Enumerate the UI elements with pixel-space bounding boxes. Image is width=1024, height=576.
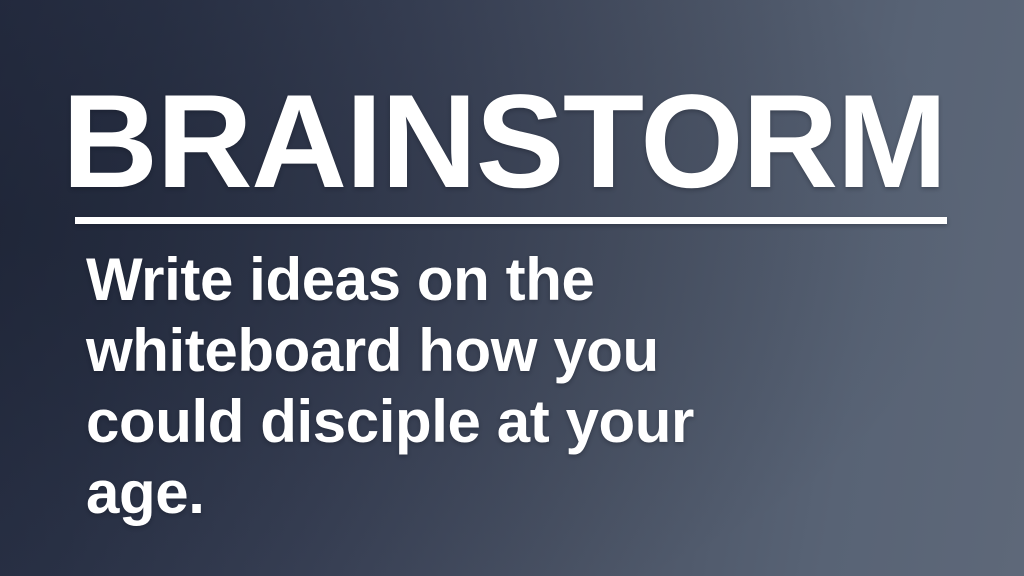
title-divider-rule xyxy=(75,217,947,224)
presentation-slide: BRAINSTORM Write ideas on the whiteboard… xyxy=(0,0,1024,576)
slide-content: BRAINSTORM Write ideas on the whiteboard… xyxy=(0,0,1024,576)
body-line: age. xyxy=(86,457,876,528)
body-line: whiteboard how you xyxy=(86,315,876,386)
slide-body-text: Write ideas on the whiteboard how you co… xyxy=(86,244,876,528)
slide-title: BRAINSTORM xyxy=(62,72,962,212)
body-line: could disciple at your xyxy=(86,386,876,457)
body-line: Write ideas on the xyxy=(86,244,876,315)
